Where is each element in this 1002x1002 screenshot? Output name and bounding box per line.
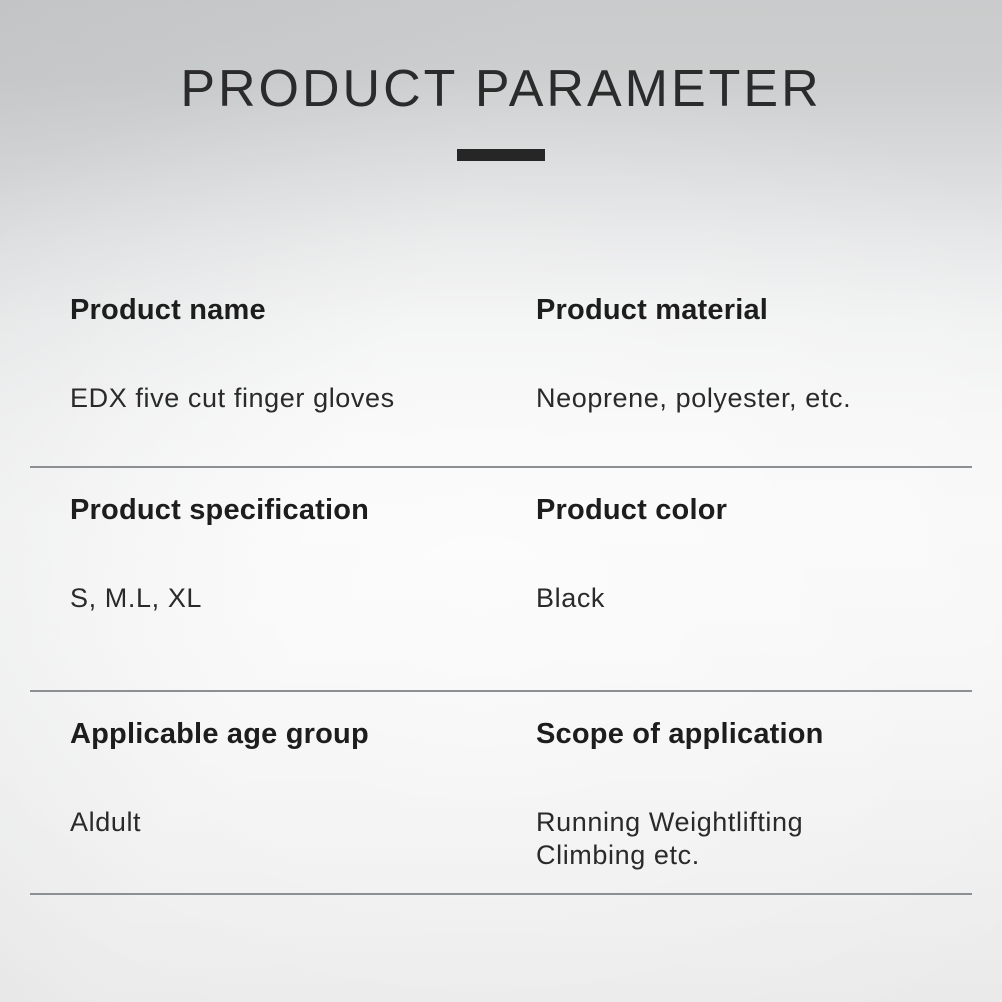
- spec-cell-product-name: Product name EDX five cut finger gloves: [30, 268, 513, 415]
- table-row: Product name EDX five cut finger gloves …: [30, 268, 972, 468]
- page-title: PRODUCT PARAMETER: [0, 62, 1002, 117]
- spec-value: EDX five cut finger gloves: [70, 382, 513, 415]
- spec-label: Product specification: [70, 495, 513, 527]
- spec-value: Neoprene, polyester, etc.: [536, 382, 972, 415]
- spec-label: Product name: [70, 295, 513, 327]
- sheet-header: PRODUCT PARAMETER: [0, 62, 1002, 161]
- table-row: Applicable age group Aldult Scope of app…: [30, 692, 972, 895]
- spec-cell-applicable-age-group: Applicable age group Aldult: [30, 692, 513, 839]
- title-underline-rule: [457, 149, 545, 161]
- spec-label: Applicable age group: [70, 719, 513, 751]
- spec-label: Product material: [536, 295, 972, 327]
- spec-cell-product-material: Product material Neoprene, polyester, et…: [513, 268, 972, 415]
- spec-label: Scope of application: [536, 719, 972, 751]
- product-parameter-sheet: PRODUCT PARAMETER Product name EDX five …: [0, 0, 1002, 1002]
- spec-value: Black: [536, 582, 972, 615]
- table-row: Product specification S, M.L, XL Product…: [30, 468, 972, 692]
- spec-cell-product-specification: Product specification S, M.L, XL: [30, 468, 513, 615]
- spec-table: Product name EDX five cut finger gloves …: [30, 268, 972, 895]
- spec-label: Product color: [536, 495, 972, 527]
- spec-value: Aldult: [70, 806, 513, 839]
- spec-cell-product-color: Product color Black: [513, 468, 972, 615]
- spec-value: Running Weightlifting Climbing etc.: [536, 806, 972, 872]
- spec-cell-scope-of-application: Scope of application Running Weightlifti…: [513, 692, 972, 872]
- spec-value: S, M.L, XL: [70, 582, 513, 615]
